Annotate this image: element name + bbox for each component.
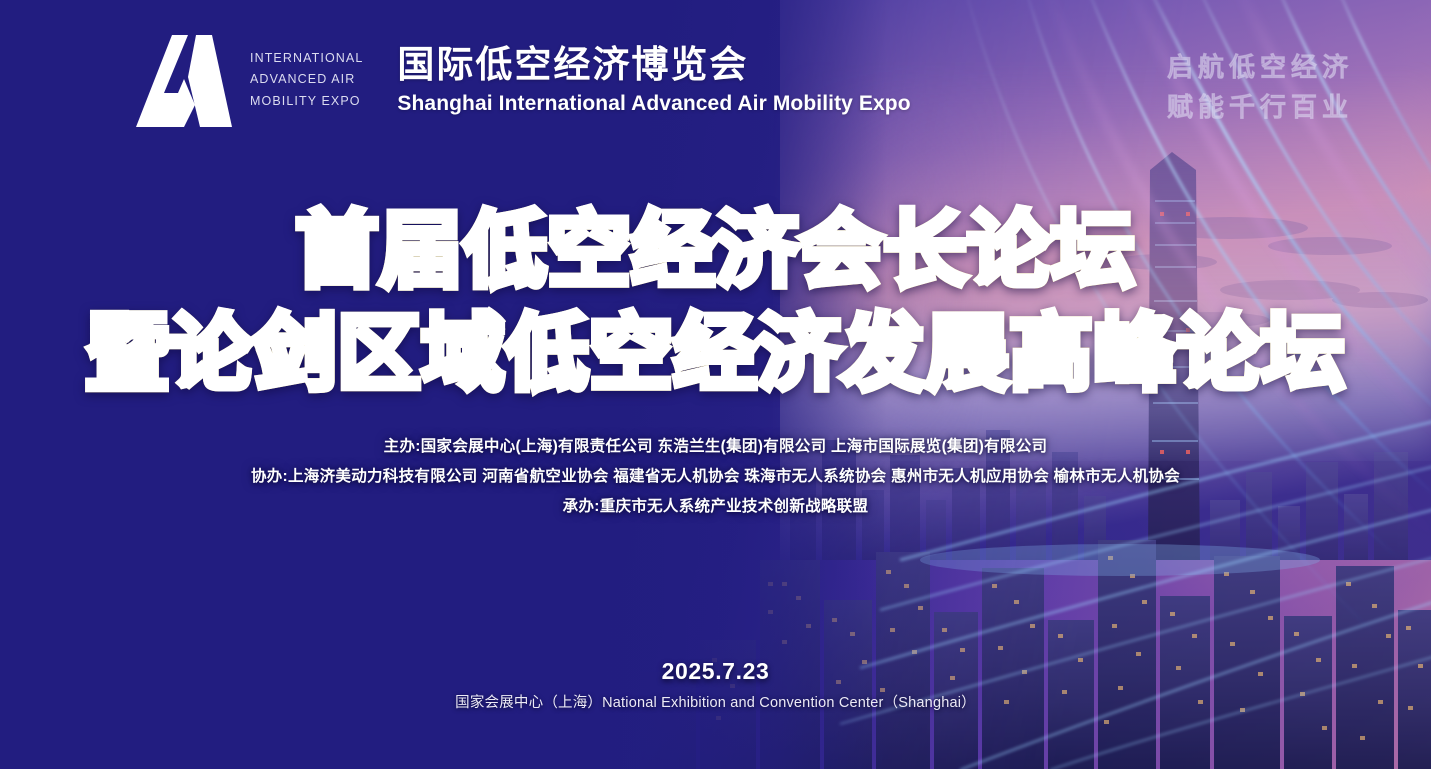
organizer-coorganizer-line: 协办:上海济美动力科技有限公司 河南省航空业协会 福建省无人机协会 珠海市无人系… bbox=[0, 462, 1431, 492]
logo-word-line-1: INTERNATIONAL bbox=[250, 48, 363, 70]
main-title-block: 首届低空经济会长论坛 暨论剑区域低空经济发展高峰论坛 bbox=[0, 205, 1431, 401]
main-title-line-2: 暨论剑区域低空经济发展高峰论坛 bbox=[0, 308, 1431, 401]
expo-title-block: 国际低空经济博览会 Shanghai International Advance… bbox=[397, 44, 910, 116]
slogan-line-2: 赋能千行百业 bbox=[1167, 88, 1353, 128]
logo-wordmark: INTERNATIONAL ADVANCED AIR MOBILITY EXPO bbox=[250, 48, 363, 113]
corner-slogan: 启航低空经济 赋能千行百业 bbox=[1167, 48, 1353, 127]
logo-word-line-2: ADVANCED AIR bbox=[250, 69, 363, 91]
expo-title-en: Shanghai International Advanced Air Mobi… bbox=[397, 92, 910, 116]
poster-canvas: INTERNATIONAL ADVANCED AIR MOBILITY EXPO… bbox=[0, 0, 1431, 769]
expo-title-cn: 国际低空经济博览会 bbox=[397, 44, 910, 85]
main-title-line-1: 首届低空经济会长论坛 bbox=[0, 205, 1431, 298]
event-venue: 国家会展中心（上海）National Exhibition and Conven… bbox=[0, 691, 1431, 712]
footer-block: 2025.7.23 国家会展中心（上海）National Exhibition … bbox=[0, 658, 1431, 712]
organizer-host-line: 主办:国家会展中心(上海)有限责任公司 东浩兰生(集团)有限公司 上海市国际展览… bbox=[0, 432, 1431, 462]
logo-word-line-3: MOBILITY EXPO bbox=[250, 91, 363, 113]
aam-chevron-logo-icon bbox=[132, 33, 236, 128]
expo-logo: INTERNATIONAL ADVANCED AIR MOBILITY EXPO bbox=[132, 33, 363, 128]
organizer-block: 主办:国家会展中心(上海)有限责任公司 东浩兰生(集团)有限公司 上海市国际展览… bbox=[0, 432, 1431, 521]
event-date: 2025.7.23 bbox=[0, 658, 1431, 685]
slogan-line-1: 启航低空经济 bbox=[1167, 48, 1353, 88]
organizer-undertaker-line: 承办:重庆市无人系统产业技术创新战略联盟 bbox=[0, 492, 1431, 522]
